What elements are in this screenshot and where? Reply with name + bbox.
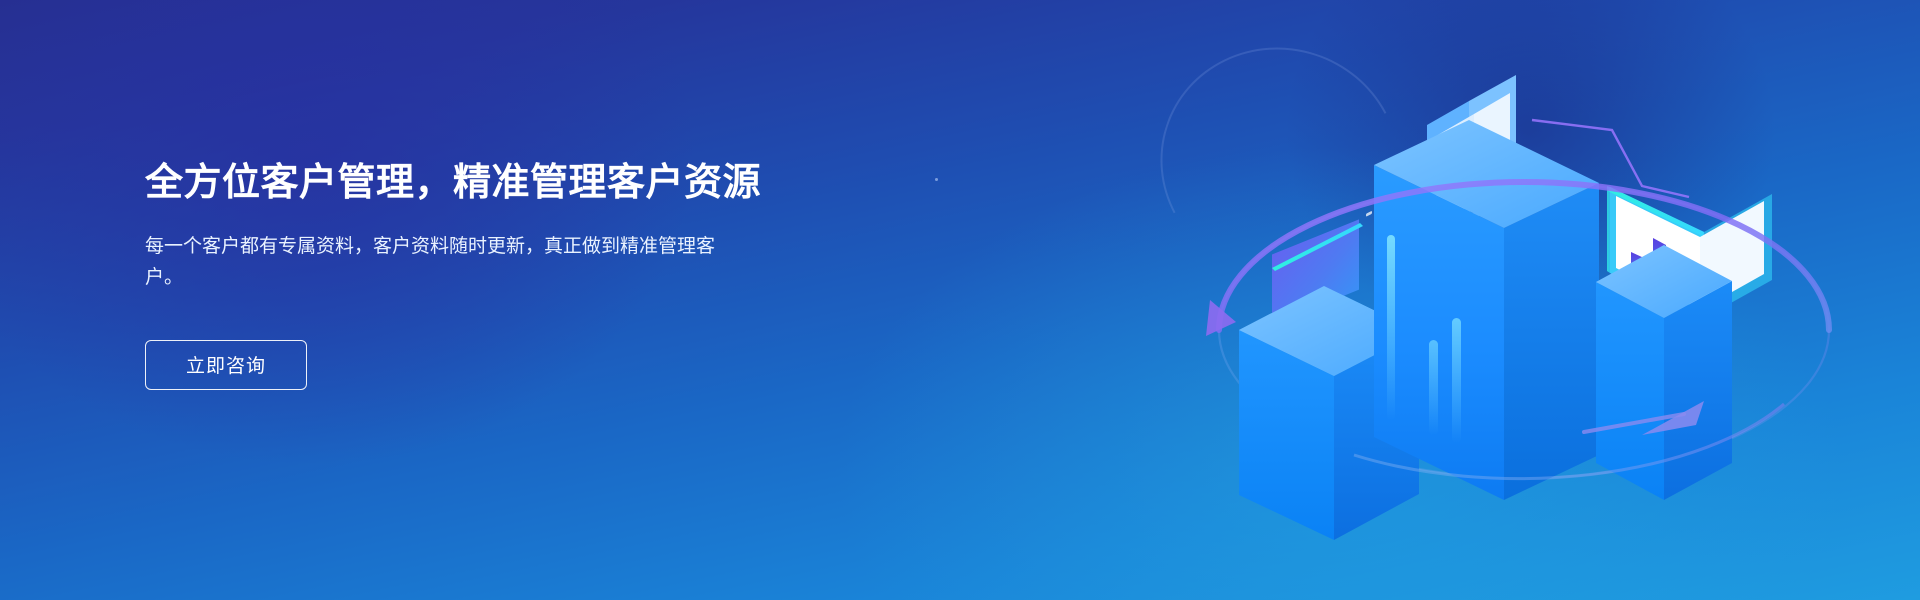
hero-banner: 全方位客户管理，精准管理客户资源 每一个客户都有专属资料，客户资料随时更新，真正… — [0, 0, 1920, 600]
right-pedestal — [1596, 186, 1772, 500]
hero-copy-block: 全方位客户管理，精准管理客户资源 每一个客户都有专属资料，客户资料随时更新，真正… — [145, 160, 785, 390]
page-subtitle: 每一个客户都有专属资料，客户资料随时更新，真正做到精准管理客户。 — [145, 232, 745, 294]
decorative-speck — [935, 178, 938, 181]
consult-now-button[interactable]: 立即咨询 — [145, 340, 307, 390]
hero-illustration — [1144, 0, 1904, 600]
center-pedestal — [1374, 75, 1599, 500]
page-title: 全方位客户管理，精准管理客户资源 — [145, 160, 785, 206]
